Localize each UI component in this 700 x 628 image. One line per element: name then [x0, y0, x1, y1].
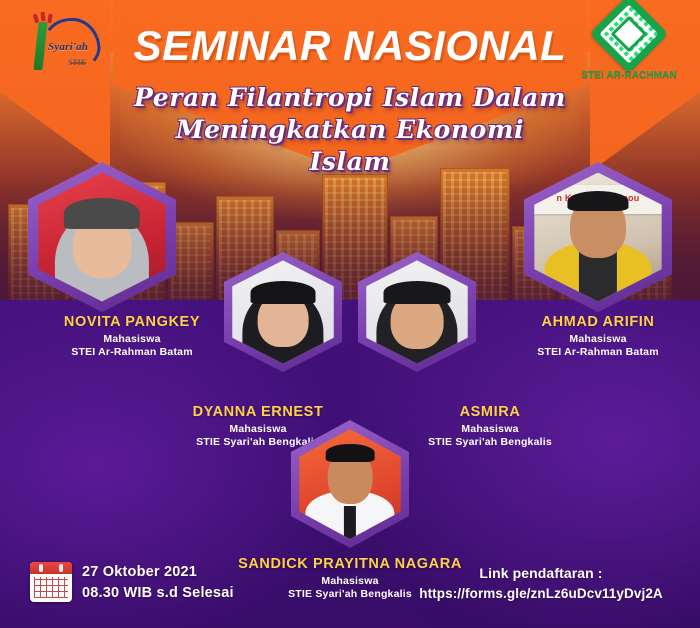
speaker-org: STIE Syari'ah Bengkalis — [375, 436, 605, 448]
speaker-role: Mahasiswa — [483, 333, 700, 345]
subtitle-line-2: Meningkatkan Ekonomi — [0, 114, 700, 146]
speaker-photo-sandick-prayitna-nagara — [291, 420, 409, 548]
calendar-icon — [30, 562, 72, 602]
speaker-info-novita-pangkey: NOVITA PANGKEY Mahasiswa STEI Ar-Rahman … — [17, 314, 247, 358]
speaker-name: ASMIRA — [375, 404, 605, 420]
speaker-photo-ahmad-arifin: n Ke usa Prog nou — [524, 162, 672, 312]
calendar-ring — [39, 564, 43, 572]
logo-right-label: STEI AR-RACHMAN — [574, 70, 684, 81]
speaker-photo-asmira — [358, 252, 476, 372]
calendar-grid — [34, 577, 68, 598]
person-illustration — [232, 260, 333, 363]
speaker-org: STEI Ar-Rahman Batam — [483, 346, 700, 358]
event-date: 27 Oktober 2021 — [82, 562, 234, 583]
speaker-info-asmira: ASMIRA Mahasiswa STIE Syari'ah Bengkalis — [375, 404, 605, 448]
person-illustration — [366, 260, 467, 363]
speaker-info-ahmad-arifin: AHMAD ARIFIN Mahasiswa STEI Ar-Rahman Ba… — [483, 314, 700, 358]
calendar-header — [30, 562, 72, 574]
person-illustration — [534, 173, 661, 302]
speaker-org: STEI Ar-Rahman Batam — [17, 346, 247, 358]
logo-tick-icon — [41, 12, 46, 21]
speaker-role: Mahasiswa — [17, 333, 247, 345]
seminar-poster: Syari'ah STIE STEI AR-RACHMAN SEMINAR NA… — [0, 0, 700, 628]
speaker-name: AHMAD ARIFIN — [483, 314, 700, 330]
speaker-name: DYANNA ERNEST — [143, 404, 373, 420]
subtitle-line-1: Peran Filantropi Islam Dalam — [0, 82, 700, 114]
registration-url[interactable]: https://forms.gle/znLz6uDcv11yDvj2A — [396, 584, 686, 604]
speaker-role: Mahasiswa — [375, 423, 605, 435]
person-illustration — [299, 429, 400, 539]
event-datetime: 27 Oktober 2021 08.30 WIB s.d Selesai — [82, 562, 234, 604]
event-time: 08.30 WIB s.d Selesai — [82, 583, 234, 604]
registration-label: Link pendaftaran : — [396, 563, 686, 584]
calendar-ring — [59, 564, 63, 572]
poster-title: SEMINAR NASIONAL — [0, 22, 700, 70]
speaker-photo-dyanna-ernest — [224, 252, 342, 372]
person-illustration — [38, 173, 165, 302]
speaker-name: NOVITA PANGKEY — [17, 314, 247, 330]
registration-block: Link pendaftaran : https://forms.gle/znL… — [396, 563, 686, 604]
speaker-photo-novita-pangkey — [28, 162, 176, 312]
